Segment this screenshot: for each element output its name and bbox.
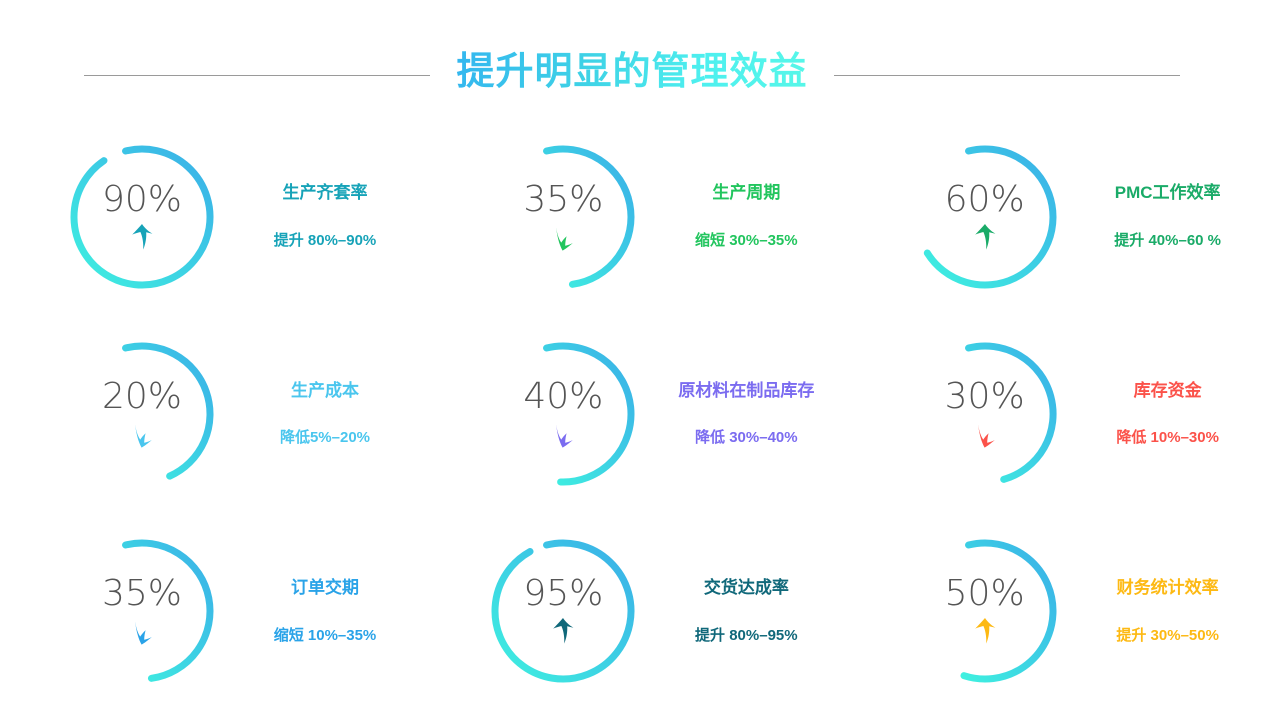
gauge-95: 95% bbox=[483, 531, 643, 691]
arrow-down-icon bbox=[550, 419, 576, 449]
metric-title: 订单交期 bbox=[291, 578, 359, 598]
gauge-35: 35% bbox=[62, 531, 222, 691]
metric-card: 30%库存资金降低 10%–30% bbox=[843, 315, 1264, 512]
metric-title: PMC工作效率 bbox=[1115, 183, 1221, 203]
metric-info: 库存资金降低 10%–30% bbox=[1093, 381, 1243, 447]
metric-title: 生产齐套率 bbox=[283, 183, 368, 203]
metric-title: 生产周期 bbox=[712, 183, 780, 203]
metric-subtitle: 降低 10%–30% bbox=[1116, 429, 1219, 447]
metric-subtitle: 缩短 10%–35% bbox=[274, 627, 377, 645]
gauge-value: 90% bbox=[102, 182, 182, 218]
gauge-center: 35% bbox=[483, 137, 643, 297]
gauge-value: 35% bbox=[523, 182, 603, 218]
gauge-center: 50% bbox=[905, 531, 1065, 691]
gauge-center: 35% bbox=[62, 531, 222, 691]
gauge-center: 95% bbox=[483, 531, 643, 691]
metric-title: 库存资金 bbox=[1134, 381, 1202, 401]
gauge-60: 60% bbox=[905, 137, 1065, 297]
metric-subtitle: 提升 80%–90% bbox=[274, 232, 377, 250]
gauge-center: 60% bbox=[905, 137, 1065, 297]
page-title: 提升明显的管理效益 bbox=[456, 48, 807, 102]
metric-title: 交货达成率 bbox=[704, 578, 789, 598]
gauge-value: 50% bbox=[945, 576, 1025, 612]
page-header: 提升明显的管理效益 bbox=[0, 44, 1264, 106]
arrow-down-icon bbox=[550, 222, 576, 252]
metric-info: 交货达成率提升 80%–95% bbox=[671, 578, 821, 644]
metric-card: 60%PMC工作效率提升 40%–60 % bbox=[843, 118, 1264, 315]
gauge-value: 35% bbox=[102, 576, 182, 612]
metric-subtitle: 降低5%–20% bbox=[280, 429, 370, 447]
metric-subtitle: 降低 30%–40% bbox=[695, 429, 798, 447]
metric-subtitle: 缩短 30%–35% bbox=[695, 232, 798, 250]
gauge-center: 30% bbox=[905, 334, 1065, 494]
metric-grid: 90%生产齐套率提升 80%–90%35%生产周期缩短 30%–35%60%PM… bbox=[0, 118, 1264, 710]
gauge-50: 50% bbox=[905, 531, 1065, 691]
metric-info: 财务统计效率提升 30%–50% bbox=[1093, 578, 1243, 644]
metric-info: 生产齐套率提升 80%–90% bbox=[250, 183, 400, 249]
gauge-90: 90% bbox=[62, 137, 222, 297]
metric-card: 95%交货达成率提升 80%–95% bbox=[421, 513, 842, 710]
metric-info: 原材料在制品库存降低 30%–40% bbox=[671, 381, 821, 447]
metric-card: 50%财务统计效率提升 30%–50% bbox=[843, 513, 1264, 710]
metric-card: 20%生产成本降低5%–20% bbox=[0, 315, 421, 512]
arrow-down-icon bbox=[129, 616, 155, 646]
gauge-35: 35% bbox=[483, 137, 643, 297]
metric-card: 35%生产周期缩短 30%–35% bbox=[421, 118, 842, 315]
metric-subtitle: 提升 40%–60 % bbox=[1114, 232, 1221, 250]
arrow-down-icon bbox=[129, 419, 155, 449]
metric-title: 生产成本 bbox=[291, 381, 359, 401]
gauge-value: 60% bbox=[945, 182, 1025, 218]
header-rule-left bbox=[84, 75, 430, 76]
gauge-30: 30% bbox=[905, 334, 1065, 494]
gauge-value: 40% bbox=[523, 379, 603, 415]
arrow-up-icon bbox=[972, 222, 998, 252]
gauge-20: 20% bbox=[62, 334, 222, 494]
gauge-value: 30% bbox=[945, 379, 1025, 415]
gauge-center: 20% bbox=[62, 334, 222, 494]
gauge-value: 95% bbox=[523, 576, 603, 612]
metric-title: 财务统计效率 bbox=[1117, 578, 1219, 598]
metric-card: 90%生产齐套率提升 80%–90% bbox=[0, 118, 421, 315]
metric-info: 订单交期缩短 10%–35% bbox=[250, 578, 400, 644]
arrow-up-icon bbox=[972, 616, 998, 646]
gauge-value: 20% bbox=[102, 379, 182, 415]
metric-info: PMC工作效率提升 40%–60 % bbox=[1093, 183, 1243, 249]
gauge-40: 40% bbox=[483, 334, 643, 494]
gauge-center: 40% bbox=[483, 334, 643, 494]
metric-card: 35%订单交期缩短 10%–35% bbox=[0, 513, 421, 710]
metric-title: 原材料在制品库存 bbox=[678, 381, 814, 401]
metric-info: 生产成本降低5%–20% bbox=[250, 381, 400, 447]
metric-subtitle: 提升 80%–95% bbox=[695, 627, 798, 645]
arrow-down-icon bbox=[972, 419, 998, 449]
gauge-center: 90% bbox=[62, 137, 222, 297]
metric-info: 生产周期缩短 30%–35% bbox=[671, 183, 821, 249]
header-rule-right bbox=[834, 75, 1180, 76]
metric-card: 40%原材料在制品库存降低 30%–40% bbox=[421, 315, 842, 512]
arrow-up-icon bbox=[550, 616, 576, 646]
metric-subtitle: 提升 30%–50% bbox=[1116, 627, 1219, 645]
arrow-up-icon bbox=[129, 222, 155, 252]
